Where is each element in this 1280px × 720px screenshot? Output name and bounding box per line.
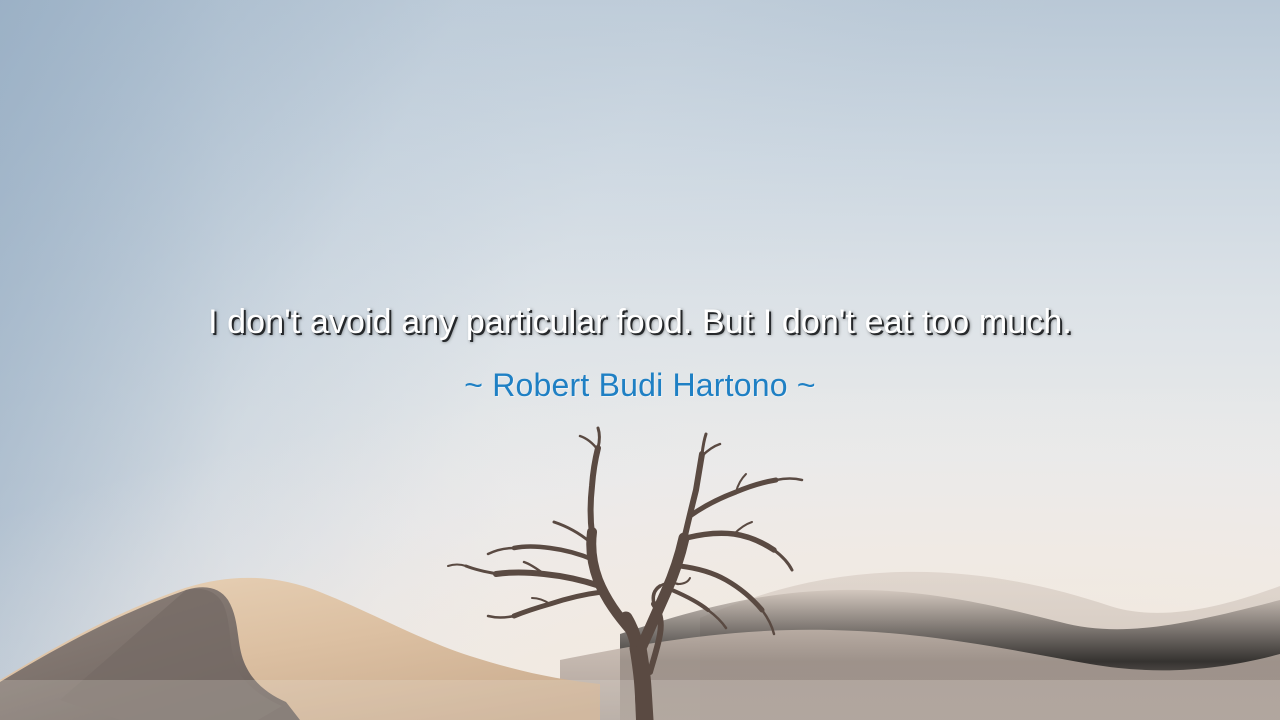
quote-image-canvas: I don't avoid any particular food. But I…: [0, 0, 1280, 720]
dead-acacia-tree: [440, 420, 840, 720]
